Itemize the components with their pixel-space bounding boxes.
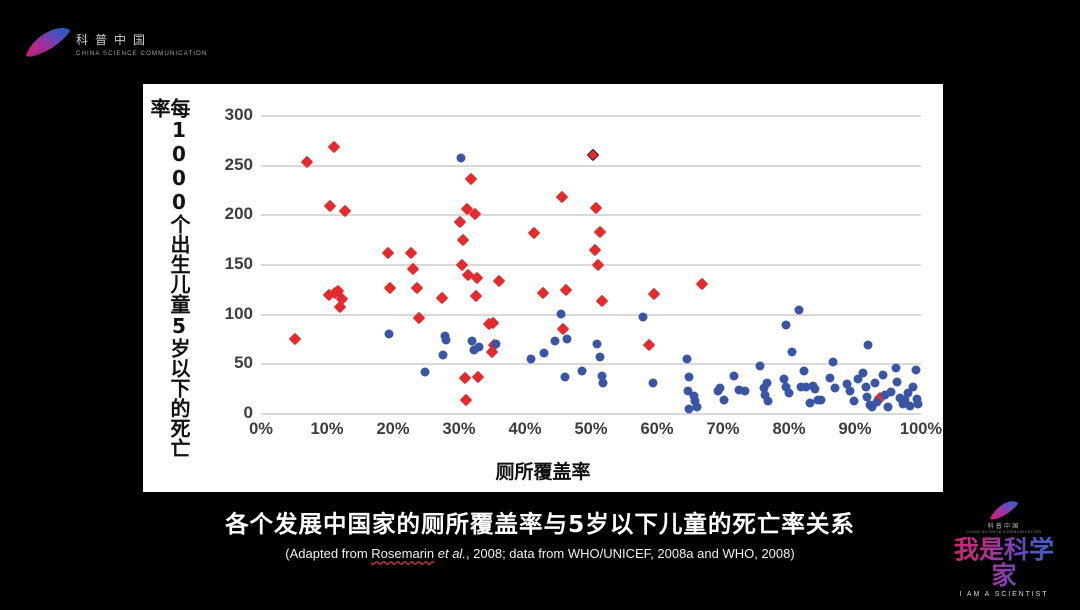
scatter-point bbox=[782, 320, 791, 329]
scatter-point bbox=[755, 362, 764, 371]
x-tick-label: 50% bbox=[574, 420, 607, 439]
scatter-point bbox=[648, 287, 661, 300]
scatter-point bbox=[470, 289, 483, 302]
scatter-point bbox=[893, 378, 902, 387]
caption-sub: (Adapted from Rosemarin et al., 2008; da… bbox=[0, 546, 1080, 561]
scatter-point bbox=[762, 379, 771, 388]
scatter-point bbox=[861, 383, 870, 392]
wing-gradient-icon bbox=[989, 500, 1019, 522]
scatter-point bbox=[741, 387, 750, 396]
scatter-point bbox=[289, 333, 302, 346]
scatter-point bbox=[439, 351, 448, 360]
gridline: 300 bbox=[261, 115, 921, 117]
scatter-point bbox=[595, 353, 604, 362]
x-tick-label: 10% bbox=[310, 420, 343, 439]
scatter-point bbox=[799, 367, 808, 376]
scatter-point bbox=[794, 305, 803, 314]
scatter-point bbox=[527, 227, 540, 240]
gridline: 100 bbox=[261, 314, 921, 316]
caption-sub-prefix: (Adapted from bbox=[285, 546, 371, 561]
scatter-point bbox=[886, 388, 895, 397]
scatter-point bbox=[729, 372, 738, 381]
scatter-point bbox=[639, 312, 648, 321]
gridline: 50 bbox=[261, 363, 921, 365]
scientist-logo-title-en: I AM A SCIENTIST bbox=[948, 591, 1060, 598]
scatter-point bbox=[456, 153, 465, 162]
scatter-point bbox=[324, 200, 337, 213]
brand-name-en: CHINA SCIENCE COMMUNICATION bbox=[76, 50, 207, 57]
gridline: 200 bbox=[261, 214, 921, 216]
scatter-point bbox=[909, 383, 918, 392]
scientist-logo: 科普中国 CHINA SCIENCE COMMUNICATION 我是科学家 I… bbox=[948, 500, 1060, 578]
y-tick-label: 150 bbox=[225, 254, 253, 274]
scatter-point bbox=[692, 403, 701, 412]
scatter-point bbox=[587, 148, 600, 161]
scatter-point bbox=[716, 384, 725, 393]
scatter-point bbox=[472, 371, 485, 384]
scatter-point bbox=[589, 244, 602, 257]
scatter-point bbox=[435, 291, 448, 304]
caption-sub-italic: et al. bbox=[434, 546, 466, 561]
scatter-point bbox=[526, 355, 535, 364]
scatter-point bbox=[493, 275, 506, 288]
x-tick-label: 70% bbox=[706, 420, 739, 439]
scatter-point bbox=[683, 355, 692, 364]
scatter-point bbox=[560, 283, 573, 296]
scatter-point bbox=[763, 397, 772, 406]
scatter-point bbox=[870, 379, 879, 388]
scatter-point bbox=[384, 281, 397, 294]
gridline: 250 bbox=[261, 165, 921, 167]
scatter-point bbox=[598, 379, 607, 388]
scatter-point bbox=[785, 389, 794, 398]
scatter-point bbox=[560, 373, 569, 382]
scatter-point bbox=[858, 369, 867, 378]
caption-main: 各个发展中国家的厕所覆盖率与5岁以下儿童的死亡率关系 bbox=[0, 505, 1080, 539]
x-tick-label: 90% bbox=[838, 420, 871, 439]
scatter-point bbox=[864, 341, 873, 350]
plot-area: 050100150200250300 0%10%20%30%40%50%60%7… bbox=[261, 115, 921, 413]
scatter-point bbox=[563, 334, 572, 343]
gridline: 0 bbox=[261, 413, 921, 415]
y-tick-label: 250 bbox=[225, 155, 253, 175]
scatter-point bbox=[891, 364, 900, 373]
x-tick-label: 80% bbox=[772, 420, 805, 439]
scatter-point bbox=[595, 294, 608, 307]
scatter-point bbox=[911, 366, 920, 375]
scientist-logo-title-cn: 我是科学家 bbox=[948, 537, 1060, 590]
scatter-point bbox=[577, 367, 586, 376]
scatter-point bbox=[491, 340, 500, 349]
scatter-point bbox=[591, 259, 604, 272]
x-tick-label: 40% bbox=[508, 420, 541, 439]
caption-sub-suffix: , 2008; data from WHO/UNICEF, 2008a and … bbox=[466, 546, 795, 561]
scatter-point bbox=[459, 394, 472, 407]
scatter-point bbox=[420, 368, 429, 377]
scientist-logo-sub-cn: 科普中国 bbox=[948, 523, 1060, 530]
x-tick-label: 20% bbox=[376, 420, 409, 439]
scatter-point bbox=[878, 371, 887, 380]
scatter-point bbox=[845, 387, 854, 396]
scatter-point bbox=[811, 385, 820, 394]
chart-panel: 每1000个出生儿童5岁以下的死亡率 050100150200250300 0%… bbox=[143, 84, 943, 492]
x-tick-label: 100% bbox=[900, 420, 942, 439]
scatter-point bbox=[590, 202, 603, 215]
scatter-point bbox=[474, 343, 483, 352]
scatter-point bbox=[454, 216, 467, 229]
brand-name-cn: 科普中国 bbox=[76, 31, 152, 48]
scatter-point bbox=[787, 348, 796, 357]
scatter-point bbox=[684, 373, 693, 382]
scatter-point bbox=[696, 277, 709, 290]
brand-logo: 科普中国 CHINA SCIENCE COMMUNICATION bbox=[24, 26, 196, 66]
scatter-point bbox=[556, 191, 569, 204]
x-tick-label: 0% bbox=[249, 420, 273, 439]
y-tick-label: 200 bbox=[225, 204, 253, 224]
scatter-point bbox=[643, 339, 656, 352]
scatter-point bbox=[649, 379, 658, 388]
scatter-point bbox=[720, 396, 729, 405]
scientist-logo-sub-en: CHINA SCIENCE COMMUNICATION bbox=[948, 530, 1060, 534]
x-tick-label: 60% bbox=[640, 420, 673, 439]
caption-sub-misspelled: Rosemarin bbox=[371, 546, 434, 561]
x-axis-title: 厕所覆盖率 bbox=[143, 457, 943, 484]
y-tick-label: 300 bbox=[225, 105, 253, 125]
scatter-point bbox=[873, 398, 882, 407]
scatter-point bbox=[592, 340, 601, 349]
scatter-point bbox=[816, 396, 825, 405]
scatter-point bbox=[459, 372, 472, 385]
slide-root: 科普中国 CHINA SCIENCE COMMUNICATION 每1000个出… bbox=[0, 0, 1080, 610]
scatter-point bbox=[550, 337, 559, 346]
scatter-point bbox=[410, 281, 423, 294]
scatter-point bbox=[465, 172, 478, 185]
scatter-point bbox=[849, 397, 858, 406]
scatter-point bbox=[593, 226, 606, 239]
y-axis-title: 每1000个出生儿童5岁以下的死亡率 bbox=[155, 98, 189, 468]
scatter-point bbox=[405, 247, 418, 260]
scatter-point bbox=[557, 322, 570, 335]
wing-gradient-icon bbox=[24, 26, 72, 60]
scatter-point bbox=[385, 329, 394, 338]
scatter-point bbox=[831, 384, 840, 393]
scatter-point bbox=[556, 309, 565, 318]
x-tick-label: 30% bbox=[442, 420, 475, 439]
scatter-point bbox=[537, 286, 550, 299]
scatter-point bbox=[828, 358, 837, 367]
y-tick-label: 100 bbox=[225, 304, 253, 324]
y-tick-label: 50 bbox=[234, 353, 253, 373]
scatter-point bbox=[540, 349, 549, 358]
scatter-point bbox=[825, 374, 834, 383]
scatter-point bbox=[884, 403, 893, 412]
scatter-point bbox=[442, 336, 451, 345]
scatter-point bbox=[327, 140, 340, 153]
scatter-point bbox=[382, 247, 395, 260]
scatter-point bbox=[457, 234, 470, 247]
scatter-point bbox=[914, 400, 923, 409]
